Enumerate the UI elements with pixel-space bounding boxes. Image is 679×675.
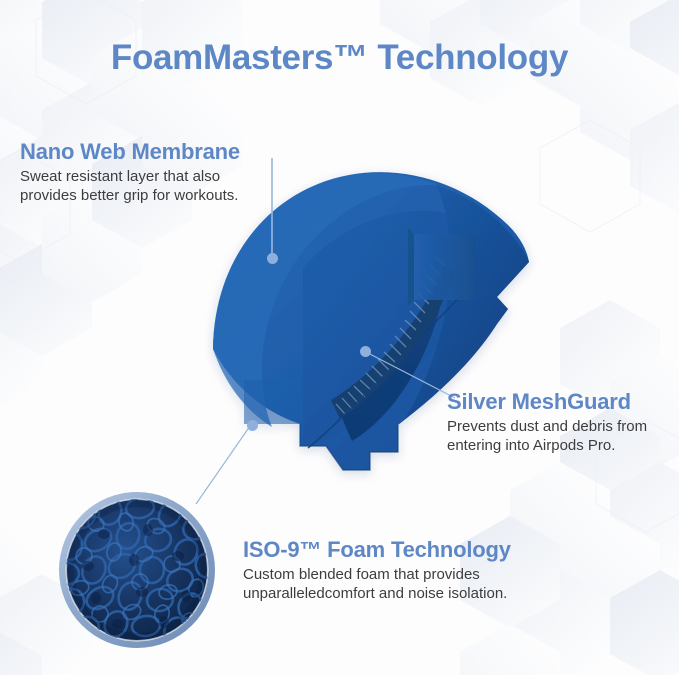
page-title: FoamMasters™ Technology: [0, 38, 679, 78]
callout-body-iso-9-foam-technology: Custom blended foam that provides unpara…: [243, 566, 511, 604]
iso-9-foam-marker[interactable]: [247, 420, 258, 431]
infographic-canvas: FoamMasters™ Technology Nano Web Membran…: [0, 0, 679, 675]
callout-silver-meshguard: Silver MeshGuard Prevents dust and debri…: [447, 390, 647, 456]
silver-meshguard-marker[interactable]: [360, 346, 371, 357]
callout-body-nano-web-membrane: Sweat resistant layer that also provides…: [20, 168, 240, 206]
callout-nano-web-membrane: Nano Web Membrane Sweat resistant layer …: [20, 140, 240, 206]
callout-heading-silver-meshguard: Silver MeshGuard: [447, 390, 647, 414]
callout-heading-iso-9-foam-technology: ISO-9™ Foam Technology: [243, 538, 511, 562]
callout-body-silver-meshguard: Prevents dust and debris from entering i…: [447, 418, 647, 456]
callout-iso-9-foam-technology: ISO-9™ Foam Technology Custom blended fo…: [243, 538, 511, 604]
nano-web-membrane-marker[interactable]: [267, 253, 278, 264]
callout-heading-nano-web-membrane: Nano Web Membrane: [20, 140, 240, 164]
